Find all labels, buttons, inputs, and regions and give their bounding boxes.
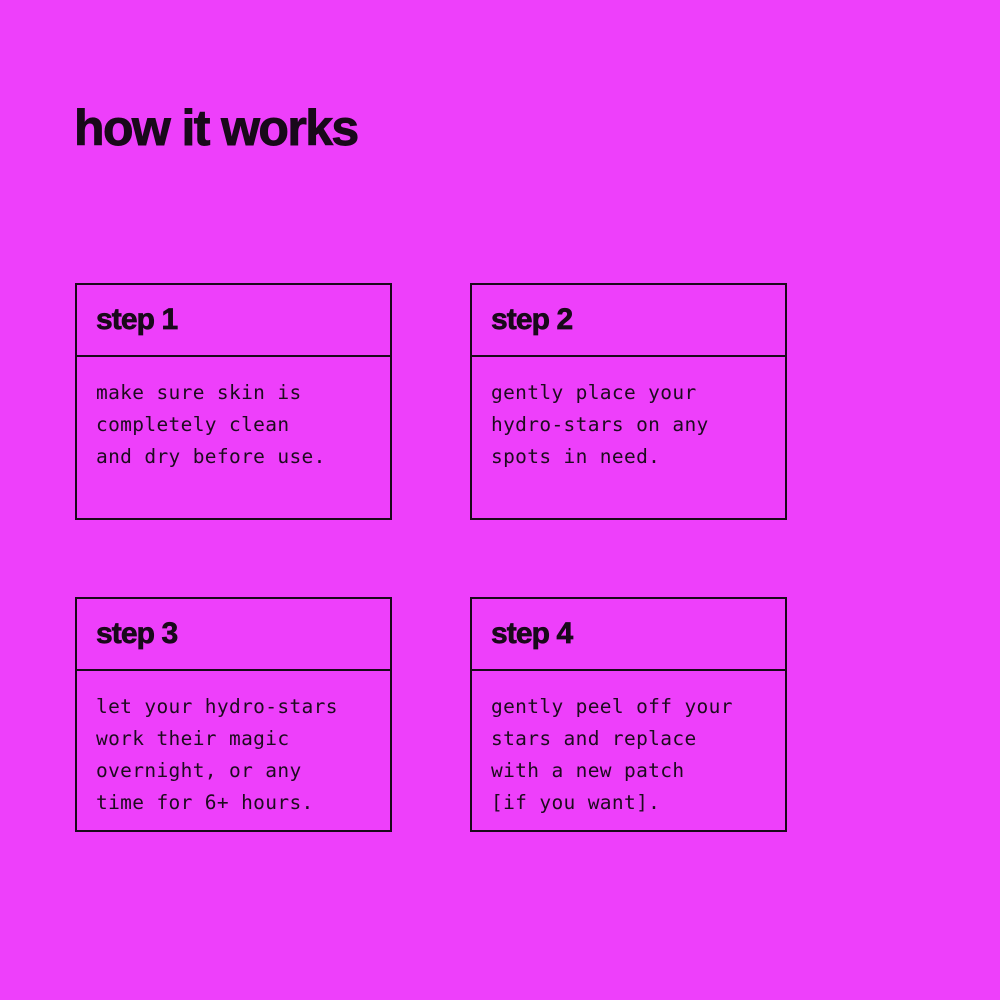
page-title: how it works	[74, 98, 358, 158]
step-card-text-4: gently peel off your stars and replace w…	[491, 691, 773, 819]
step-card-body-2: gently place your hydro-stars on any spo…	[472, 357, 785, 518]
step-card-text-3: let your hydro-stars work their magic ov…	[96, 691, 378, 819]
step-card-title-3: step 3	[96, 617, 177, 651]
how-it-works-page: how it works step 1 make sure skin is co…	[0, 0, 1000, 1000]
step-card-body-3: let your hydro-stars work their magic ov…	[77, 671, 390, 830]
step-card-1: step 1 make sure skin is completely clea…	[75, 283, 392, 520]
step-card-header-4: step 4	[472, 599, 785, 671]
step-card-header-1: step 1	[77, 285, 390, 357]
step-card-title-1: step 1	[96, 303, 177, 337]
step-card-text-2: gently place your hydro-stars on any spo…	[491, 377, 773, 473]
step-card-text-1: make sure skin is completely clean and d…	[96, 377, 378, 473]
step-card-3: step 3 let your hydro-stars work their m…	[75, 597, 392, 832]
steps-grid: step 1 make sure skin is completely clea…	[75, 283, 787, 832]
step-card-body-1: make sure skin is completely clean and d…	[77, 357, 390, 518]
step-card-4: step 4 gently peel off your stars and re…	[470, 597, 787, 832]
step-card-header-3: step 3	[77, 599, 390, 671]
step-card-title-2: step 2	[491, 303, 572, 337]
step-card-header-2: step 2	[472, 285, 785, 357]
step-card-body-4: gently peel off your stars and replace w…	[472, 671, 785, 830]
step-card-2: step 2 gently place your hydro-stars on …	[470, 283, 787, 520]
step-card-title-4: step 4	[491, 617, 572, 651]
